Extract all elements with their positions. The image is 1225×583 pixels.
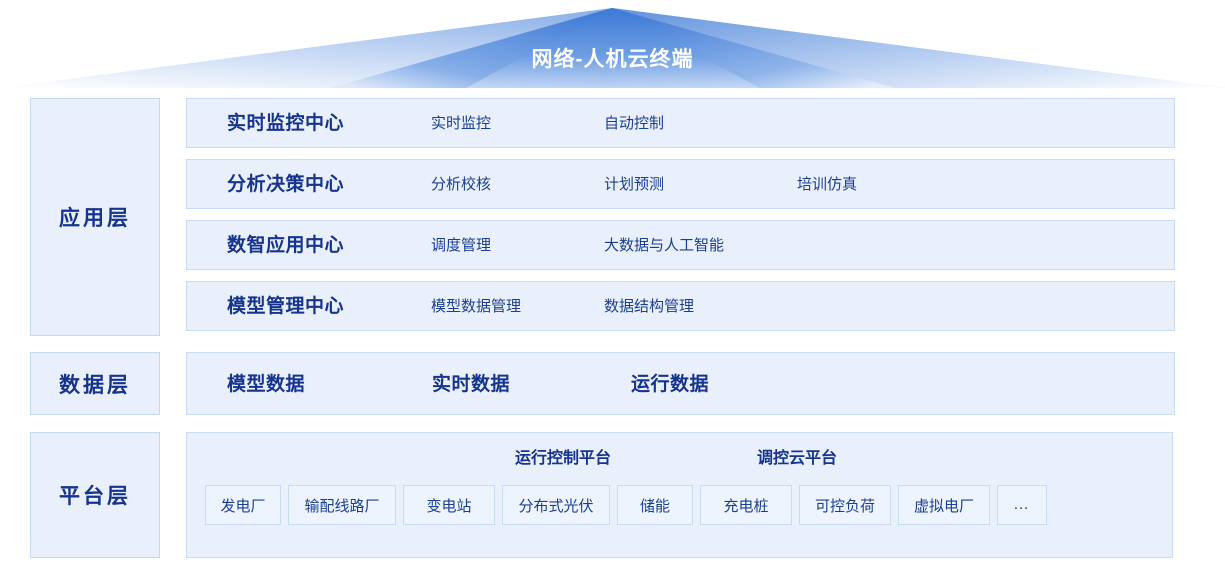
data-layer-row[interactable]: 模型数据 实时数据 运行数据 — [186, 352, 1175, 415]
device-chip-energy-storage[interactable]: 储能 — [617, 485, 693, 525]
device-chip-row: 发电厂 输配线路厂 变电站 分布式光伏 储能 充电桩 可控负荷 虚拟电厂 … — [205, 485, 1047, 525]
app-row-title: 分析决策中心 — [227, 160, 344, 210]
app-item[interactable]: 数据结构管理 — [604, 282, 694, 332]
device-chip-charging-pile[interactable]: 充电桩 — [700, 485, 792, 525]
platform-layer-box: 运行控制平台 调控云平台 发电厂 输配线路厂 变电站 分布式光伏 储能 充电桩 … — [186, 432, 1173, 558]
app-row-digital-intelligence[interactable]: 数智应用中心 调度管理 大数据与人工智能 — [186, 220, 1175, 270]
app-item[interactable]: 大数据与人工智能 — [604, 221, 724, 271]
platform-title: 运行控制平台 — [515, 448, 611, 470]
app-item[interactable]: 模型数据管理 — [431, 282, 521, 332]
device-chip-substation[interactable]: 变电站 — [403, 485, 495, 525]
app-row-realtime-monitoring[interactable]: 实时监控中心 实时监控 自动控制 — [186, 98, 1175, 148]
app-item[interactable]: 调度管理 — [431, 221, 491, 271]
data-item[interactable]: 实时数据 — [432, 353, 510, 416]
app-row-analysis-decision[interactable]: 分析决策中心 分析校核 计划预测 培训仿真 — [186, 159, 1175, 209]
app-item[interactable]: 计划预测 — [604, 160, 664, 210]
layer-label-data: 数据层 — [30, 352, 160, 415]
data-item[interactable]: 运行数据 — [631, 353, 709, 416]
app-item[interactable]: 自动控制 — [604, 99, 664, 149]
app-item[interactable]: 实时监控 — [431, 99, 491, 149]
banner: 网络-人机云终端 — [0, 0, 1225, 92]
device-chip-power-plant[interactable]: 发电厂 — [205, 485, 281, 525]
platform-title: 调控云平台 — [757, 448, 837, 470]
device-chip-transmission-line[interactable]: 输配线路厂 — [288, 485, 396, 525]
app-row-title: 实时监控中心 — [227, 99, 344, 149]
app-row-title: 模型管理中心 — [227, 282, 344, 332]
app-item[interactable]: 分析校核 — [431, 160, 491, 210]
device-chip-virtual-power-plant[interactable]: 虚拟电厂 — [898, 485, 990, 525]
app-item[interactable]: 培训仿真 — [797, 160, 857, 210]
architecture-diagram: 应用层 实时监控中心 实时监控 自动控制 分析决策中心 分析校核 计划预测 培训… — [0, 92, 1225, 583]
data-item[interactable]: 模型数据 — [227, 353, 305, 416]
device-chip-more-icon[interactable]: … — [997, 485, 1047, 525]
layer-label-application: 应用层 — [30, 98, 160, 336]
device-chip-distributed-pv[interactable]: 分布式光伏 — [502, 485, 610, 525]
page-title: 网络-人机云终端 — [0, 43, 1225, 73]
app-row-model-management[interactable]: 模型管理中心 模型数据管理 数据结构管理 — [186, 281, 1175, 331]
device-chip-controllable-load[interactable]: 可控负荷 — [799, 485, 891, 525]
layer-label-platform: 平台层 — [30, 432, 160, 558]
application-layer-rows: 实时监控中心 实时监控 自动控制 分析决策中心 分析校核 计划预测 培训仿真 数… — [186, 98, 1175, 331]
app-row-title: 数智应用中心 — [227, 221, 344, 271]
